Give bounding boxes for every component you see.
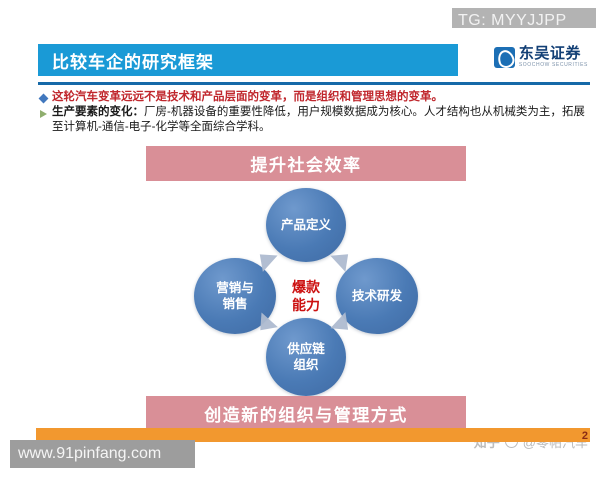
- diagram-core-line-1: 爆款: [292, 278, 320, 296]
- diagram-core-label: 爆款 能力: [272, 264, 340, 328]
- brand-name-en: SOOCHOW SECURITIES: [519, 63, 588, 68]
- diagram-node-product-definition-line-1: 产品定义: [281, 217, 331, 233]
- slide-canvas: 比较车企的研究框架 东吴证券 SOOCHOW SECURITIES 这轮汽车变革…: [0, 28, 600, 448]
- page-number: 2: [582, 430, 588, 442]
- brand-names: 东吴证券 SOOCHOW SECURITIES: [519, 46, 588, 68]
- diagram-band-bottom: 创造新的组织与管理方式: [146, 396, 466, 431]
- site-url-watermark: www.91pinfang.com: [10, 440, 195, 468]
- brand-name-cn: 东吴证券: [519, 46, 588, 61]
- diagram-node-supply-chain-line-1: 供应链: [287, 341, 325, 357]
- diamond-bullet-icon: [39, 94, 49, 104]
- diagram-band-top: 提升社会效率: [146, 146, 466, 181]
- page-title: 比较车企的研究框架: [38, 48, 214, 73]
- diagram-band-top-label: 提升社会效率: [251, 151, 362, 176]
- bullet-item-1-text: 这轮汽车变革远远不是技术和产品层面的变革，而是组织和管理思想的变革。: [52, 90, 443, 104]
- bullet-item-2: 生产要素的变化：厂房-机器设备的重要性降低，用户规模数据成为核心。人才结构也从机…: [40, 105, 588, 135]
- bullet-list: 这轮汽车变革远远不是技术和产品层面的变革，而是组织和管理思想的变革。 生产要素的…: [40, 90, 588, 135]
- bullet-item-1: 这轮汽车变革远远不是技术和产品层面的变革，而是组织和管理思想的变革。: [40, 90, 588, 104]
- diagram-band-bottom-label: 创造新的组织与管理方式: [204, 401, 408, 426]
- diagram-node-marketing-sales-line-2: 销售: [222, 296, 247, 312]
- diagram-node-supply-chain-line-2: 组织: [293, 357, 318, 373]
- site-url-label: www.91pinfang.com: [18, 445, 161, 463]
- header-divider: [38, 82, 590, 85]
- bullet-item-2-lead: 生产要素的变化：: [52, 106, 144, 118]
- diagram-core-line-2: 能力: [292, 296, 320, 314]
- slide-title-bar: 比较车企的研究框架: [38, 44, 458, 76]
- company-logo: 东吴证券 SOOCHOW SECURITIES: [494, 46, 588, 68]
- diagram-node-marketing-sales-line-1: 营销与: [216, 280, 254, 296]
- capability-cycle-diagram: 提升社会效率 产品定义 技术研发 供应链 组织 营销与 销售 爆款 能力 创造新…: [146, 146, 466, 431]
- arrow-bullet-icon: [40, 110, 47, 118]
- bullet-item-2-body: 生产要素的变化：厂房-机器设备的重要性降低，用户规模数据成为核心。人才结构也从机…: [52, 105, 588, 135]
- soochow-emblem-icon: [494, 47, 515, 68]
- diagram-node-tech-rnd-line-1: 技术研发: [352, 288, 402, 304]
